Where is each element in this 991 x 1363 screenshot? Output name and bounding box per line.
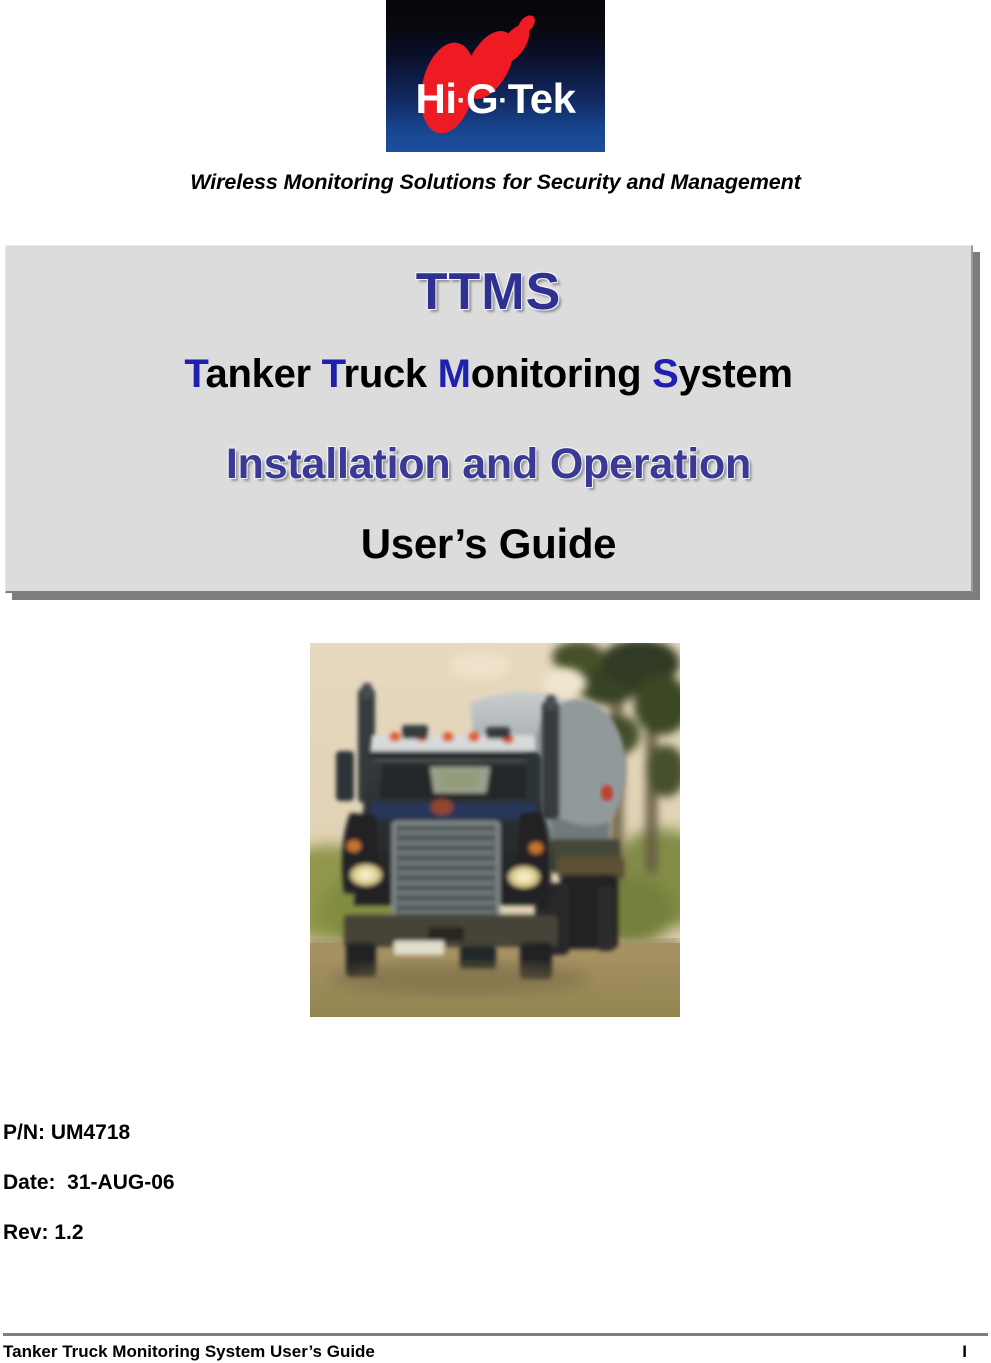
logo-wordmark-hi: Hi [416,75,457,122]
logo-wordmark: Hi·G·Tek [386,78,605,120]
title-box-inner: TTMS Tanker Truck Monitoring System Inst… [6,246,971,591]
footer-page-number: I [962,1342,967,1362]
logo-wordmark-dot-1: · [457,84,467,117]
company-tagline: Wireless Monitoring Solutions for Securi… [0,170,991,195]
product-name-cap-3: M [438,352,471,396]
product-name-cap-2: T [322,352,344,396]
logo-block: Hi·G·Tek [0,0,991,152]
higtek-logo: Hi·G·Tek [386,0,605,152]
document-date: Date: 31-AUG-06 [3,1171,175,1195]
product-name: Tanker Truck Monitoring System [6,354,971,394]
document-subtype: User’s Guide [6,523,971,565]
product-name-rest-2: ruck [344,352,438,396]
document-type: Installation and Operation [6,443,971,486]
logo-wordmark-dot-2: · [498,84,508,117]
product-name-rest-3: onitoring [471,352,652,396]
product-name-cap-4: S [652,352,678,396]
product-acronym: TTMS [6,266,971,318]
footer-title: Tanker Truck Monitoring System User’s Gu… [3,1342,375,1362]
logo-wordmark-g: G [466,75,498,122]
footer-divider [3,1333,988,1336]
logo-wordmark-tek: Tek [508,75,576,122]
product-name-rest-1: anker [206,352,322,396]
document-revision: Rev: 1.2 [3,1221,84,1245]
product-name-cap-1: T [184,352,205,396]
product-name-rest-4: ystem [678,352,792,396]
tanker-truck-photo [310,643,680,1017]
part-number: P/N: UM4718 [3,1121,130,1145]
title-box: TTMS Tanker Truck Monitoring System Inst… [5,245,973,593]
tanker-truck-illustration [310,643,680,1017]
